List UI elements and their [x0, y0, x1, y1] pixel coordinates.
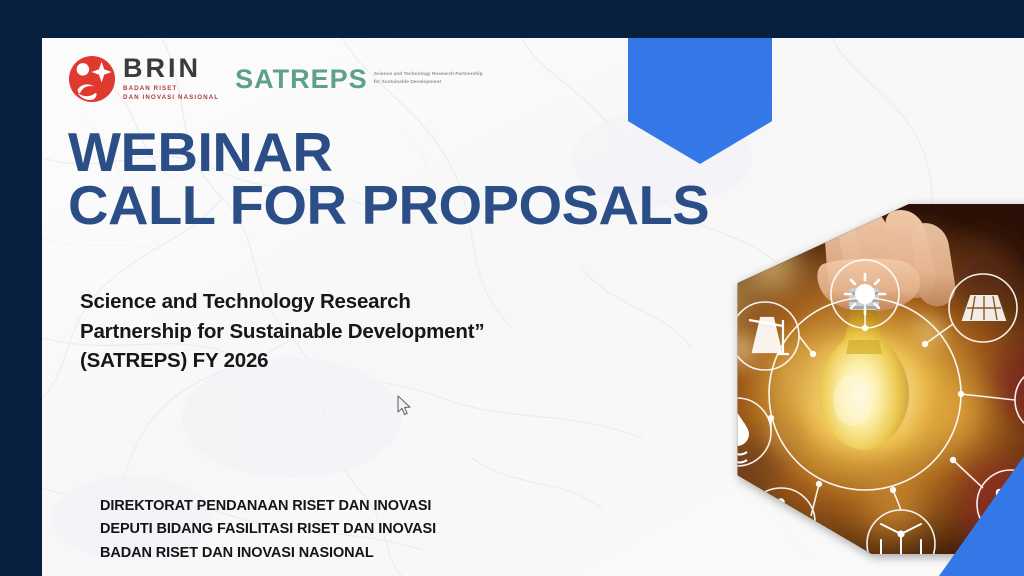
brin-tagline-line1: BADAN RISET [123, 85, 219, 94]
mouse-pointer [397, 395, 413, 417]
sun-icon [845, 274, 885, 314]
presentation-frame: BRIN BADAN RISET DAN INOVASI NASIONAL SA… [0, 0, 1024, 576]
brin-logo: BRIN BADAN RISET DAN INOVASI NASIONAL [68, 55, 219, 103]
brin-tagline-line2: DAN INOVASI NASIONAL [123, 94, 219, 103]
footer-line3: BADAN RISET DAN INOVASI NASIONAL [100, 542, 436, 565]
brin-name: BRIN [123, 55, 219, 82]
hexagon-energy-photo [653, 204, 1024, 554]
solar-panel-icon [963, 296, 1005, 320]
footer-line2: DEPUTI BIDANG FASILITASI RISET DAN INOVA… [100, 518, 436, 541]
satreps-name: SATREPS [235, 64, 368, 95]
page-title: WEBINAR CALL FOR PROPOSALS [68, 126, 709, 232]
organization-footer: DIREKTORAT PENDANAAN RISET DAN INOVASI D… [100, 495, 436, 565]
footer-line1: DIREKTORAT PENDANAAN RISET DAN INOVASI [100, 495, 436, 518]
satreps-tagline-line2: for Sustainable Development [374, 79, 483, 87]
satreps-logo: SATREPS Science and Technology Research … [235, 64, 482, 95]
headline-line2: CALL FOR PROPOSALS [68, 179, 709, 232]
brin-logo-mark [68, 55, 116, 103]
slide-canvas: BRIN BADAN RISET DAN INOVASI NASIONAL SA… [42, 38, 1024, 576]
brin-tagline: BADAN RISET DAN INOVASI NASIONAL [123, 85, 219, 103]
hexagon-photo-wrapper [653, 204, 1024, 554]
subtitle-line2: Partnership for Sustainable Development” [80, 317, 484, 347]
satreps-tagline: Science and Technology Research Partners… [374, 71, 483, 86]
subtitle: Science and Technology Research Partners… [80, 287, 484, 376]
logo-row: BRIN BADAN RISET DAN INOVASI NASIONAL SA… [68, 55, 483, 103]
brin-wordmark: BRIN BADAN RISET DAN INOVASI NASIONAL [123, 55, 219, 103]
subtitle-line3: (SATREPS) FY 2026 [80, 346, 484, 376]
subtitle-line1: Science and Technology Research [80, 287, 484, 317]
satreps-tagline-line1: Science and Technology Research Partners… [374, 71, 483, 79]
